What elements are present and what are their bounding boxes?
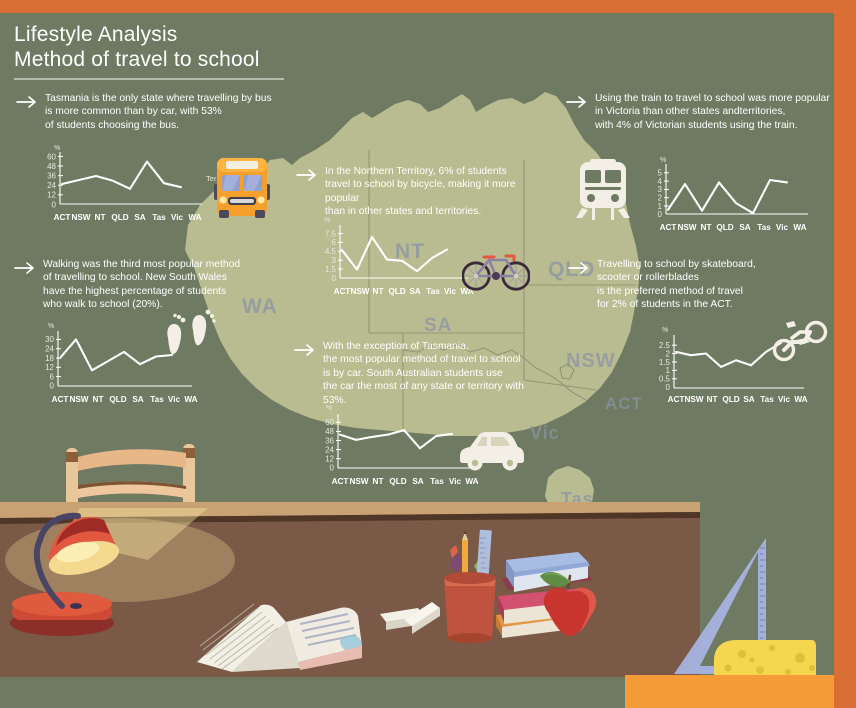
callout-skateboard-text: Travelling to school by skateboard, scoo… [597,258,756,312]
callout-bus: Tasmania is the only state where travell… [16,92,276,132]
svg-text:ACT: ACT [332,477,349,486]
svg-text:24: 24 [45,345,54,354]
chart-bicycle-unit: % [324,217,330,224]
svg-text:0: 0 [330,464,335,473]
svg-text:6: 6 [50,372,55,381]
svg-text:7.5: 7.5 [325,229,337,238]
chart-walking-unit: % [48,323,54,330]
callout-bicycle: In the Northern Territory, 6% of student… [296,165,548,219]
callout-train: Using the train to travel to school was … [566,92,834,132]
map-label-nsw: NSW [566,350,616,373]
svg-text:Vic: Vic [171,213,184,222]
svg-text:WA: WA [793,223,806,232]
scooter-icon [770,318,830,362]
svg-text:Tas: Tas [757,223,771,232]
svg-text:NSW: NSW [349,477,368,486]
chart-car-unit: % [326,405,332,412]
svg-text:ACT: ACT [52,395,69,404]
svg-text:QLD: QLD [389,477,406,486]
map-label-act: ACT [605,394,643,414]
train-icon [572,158,634,222]
chart-car-xaxis: ACT NSW NT QLD SA Tas Vic WA [332,477,479,486]
svg-text:NSW: NSW [677,223,696,232]
svg-text:3: 3 [332,256,337,265]
svg-text:6: 6 [332,238,337,247]
svg-text:QLD: QLD [722,395,739,404]
svg-text:SA: SA [132,395,143,404]
school-bus-icon [208,148,276,226]
svg-text:NSW: NSW [69,395,88,404]
page-header: Lifestyle Analysis Method of travel to s… [14,22,284,80]
chart-skateboard-unit: % [662,327,668,334]
chart-car-yaxis: 60 48 36 24 12 0 [325,418,341,473]
callout-bus-text: Tasmania is the only state where travell… [45,92,272,132]
svg-text:12: 12 [325,455,334,464]
svg-text:ACT: ACT [334,287,351,296]
svg-text:Vic: Vic [778,395,791,404]
arrow-right-icon [296,168,318,182]
infographic-root: NT QLD WA SA NSW ACT Vic Tas Lifestyle A… [0,0,856,708]
svg-text:NSW: NSW [350,287,369,296]
chart-bus-yaxis: 60 48 36 24 12 0 [47,152,63,209]
svg-text:30: 30 [45,335,54,344]
svg-text:ACT: ACT [54,213,71,222]
callout-car: With the exception of Tasmania, the most… [294,340,544,407]
svg-text:SA: SA [743,395,754,404]
bicycle-icon [462,248,530,292]
map-label-tas: Tas [561,489,594,510]
car-icon [456,424,526,472]
svg-text:60: 60 [325,418,334,427]
chart-train: % 5 4 3 2 1 0 ACT NSW NT QLD SA Tas Vic … [644,152,844,238]
svg-text:WA: WA [188,213,201,222]
svg-text:QLD: QLD [388,287,405,296]
chart-train-unit: % [660,157,666,164]
svg-text:ACT: ACT [660,223,677,232]
chart-train-xaxis: ACT NSW NT QLD SA Tas Vic WA [660,223,807,232]
frame-right-bar [834,0,856,708]
svg-text:18: 18 [45,354,54,363]
svg-text:QLD: QLD [109,395,126,404]
svg-text:NT: NT [93,395,104,404]
svg-text:SA: SA [134,213,145,222]
map-label-vic: Vic [530,423,560,444]
svg-text:0: 0 [50,382,55,391]
svg-text:48: 48 [325,427,334,436]
chart-train-yaxis: 5 4 3 2 1 0 [658,169,669,220]
chart-walking-xaxis: ACT NSW NT QLD SA Tas Vic WA [52,395,198,404]
svg-text:36: 36 [47,172,56,181]
map-label-sa: SA [424,315,452,337]
arrow-right-icon [14,261,36,275]
svg-text:0: 0 [666,383,671,392]
chart-bicycle-xaxis: ACT NSW NT QLD SA Tas Vic WA [334,287,474,296]
frame-top-bar [0,0,856,13]
svg-text:24: 24 [325,445,334,454]
map-label-wa: WA [242,295,278,319]
chart-bus-xaxis: ACT NSW NT QLD SA Tas Vic WA [54,213,202,222]
svg-text:NSW: NSW [684,395,703,404]
svg-text:NT: NT [707,395,718,404]
arrow-right-icon [566,95,588,109]
svg-text:Vic: Vic [168,395,181,404]
callout-train-text: Using the train to travel to school was … [595,92,830,132]
svg-text:24: 24 [47,181,56,190]
arrow-right-icon [294,343,316,357]
svg-text:Vic: Vic [444,287,457,296]
svg-text:0: 0 [658,210,663,219]
svg-text:Tas: Tas [430,477,444,486]
page-title-line2: Method of travel to school [14,47,284,72]
svg-text:QLD: QLD [111,213,128,222]
svg-text:SA: SA [412,477,423,486]
svg-text:NT: NT [373,477,384,486]
svg-text:WA: WA [465,477,478,486]
svg-text:48: 48 [47,162,56,171]
svg-text:NT: NT [373,287,384,296]
svg-text:0: 0 [52,200,57,209]
callout-walking-text: Walking was the third most popular metho… [43,258,240,312]
svg-text:Tas: Tas [150,395,164,404]
callout-skateboard: Travelling to school by skateboard, scoo… [568,258,812,312]
title-divider [14,78,284,80]
svg-text:WA: WA [184,395,197,404]
svg-text:SA: SA [739,223,750,232]
svg-text:SA: SA [409,287,420,296]
svg-text:NT: NT [701,223,712,232]
svg-text:4.5: 4.5 [325,247,337,256]
chart-skateboard-xaxis: ACT NSW NT QLD SA Tas Vic WA [668,395,808,404]
svg-text:ACT: ACT [668,395,685,404]
svg-text:36: 36 [325,436,334,445]
arrow-right-icon [568,261,590,275]
svg-text:Tas: Tas [760,395,774,404]
frame-bottom-bar [625,675,856,708]
callout-walking: Walking was the third most popular metho… [14,258,246,312]
chart-walking-yaxis: 30 24 18 12 6 0 [45,335,61,391]
svg-text:60: 60 [47,152,56,161]
svg-text:NSW: NSW [71,213,90,222]
callout-bicycle-text: In the Northern Territory, 6% of student… [325,165,548,219]
svg-text:Tas: Tas [426,287,440,296]
svg-text:Vic: Vic [776,223,789,232]
callout-car-text: With the exception of Tasmania, the most… [323,340,544,407]
svg-text:1.5: 1.5 [325,265,337,274]
svg-text:12: 12 [47,191,56,200]
svg-text:Vic: Vic [449,477,462,486]
svg-text:0: 0 [332,274,337,283]
footprints-icon [160,308,218,362]
svg-text:WA: WA [794,395,807,404]
svg-text:Tas: Tas [152,213,166,222]
arrow-right-icon [16,95,38,109]
chart-bus-unit: % [54,145,60,152]
svg-text:QLD: QLD [716,223,733,232]
svg-text:NT: NT [95,213,106,222]
svg-text:12: 12 [45,363,54,372]
page-title-line1: Lifestyle Analysis [14,22,284,47]
